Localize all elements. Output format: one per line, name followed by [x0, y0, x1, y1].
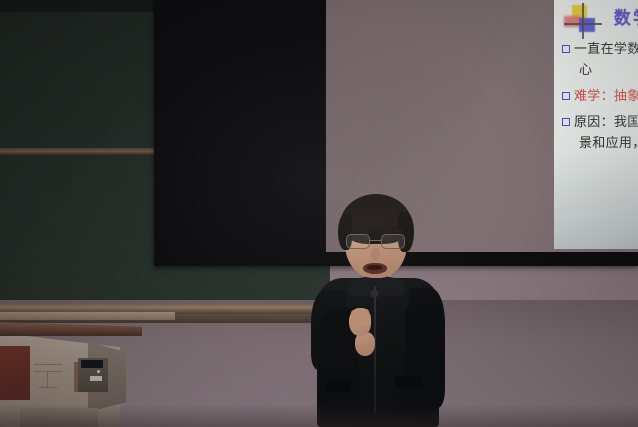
presenter-zipper-pull [371, 290, 378, 297]
crosshair-horizontal-icon [564, 23, 602, 25]
wall-trim [0, 312, 175, 320]
bullet-square-icon [562, 118, 570, 126]
lectern-equipment-indicator [97, 370, 100, 373]
presenter-jacket-zipper [374, 286, 376, 414]
bullet-text: 原因：我国教育倾向于“ [574, 112, 638, 133]
eyeglass-lens-left [346, 234, 370, 249]
presenter-finger [363, 309, 369, 327]
presenter-nose [371, 248, 380, 261]
classroom-photo: 数学的重要性 一直在学数学，还是感觉“数学无用”和力不从 心 [0, 0, 638, 427]
crosshair-vertical-icon [582, 3, 584, 39]
eyeglass-bridge [370, 240, 381, 241]
bullet-continuation: 景和应用，很少“用数学”去接实际问题 [562, 133, 638, 154]
presenter-mouth-inner [367, 265, 382, 270]
bullet-item: 难学：抽象，难懂，严密的推导→无用， [562, 86, 638, 107]
lectern-front-panel [0, 346, 30, 400]
chalkboard-upper-rail [0, 148, 172, 155]
colored-squares-crosshair-icon [562, 3, 602, 39]
bullet-text: 一直在学数学，还是感觉“数学无用”和力不从 [574, 39, 638, 60]
bullet-text: 景和应用，很少“ [579, 133, 638, 154]
wastebasket-decal-divider [47, 371, 48, 388]
bullet-square-icon [562, 45, 570, 53]
lectern-equipment-slot [81, 360, 103, 368]
lectern-equipment-label [90, 376, 102, 381]
bullet-text: 心 [579, 60, 592, 81]
slide-bullet-list: 一直在学数学，还是感觉“数学无用”和力不从 心 难学：抽象，难懂，严密的推导→无… [562, 39, 638, 154]
presenter-pocket-left [325, 380, 351, 392]
slide-content: 数学的重要性 一直在学数学，还是感觉“数学无用”和力不从 心 [554, 0, 638, 249]
presenter-pocket-right [395, 376, 421, 388]
bullet-text: 难学：抽象，难懂，严密的推导→无用， [574, 86, 638, 107]
bullet-item: 原因：我国教育倾向于“算数学”，脱离实际背 [562, 112, 638, 133]
presenter [305, 190, 455, 427]
eyeglass-lens-right [381, 234, 405, 249]
presenter-arm-right [405, 304, 445, 408]
slide-title: 数学的重要性 [614, 4, 638, 29]
bullet-continuation: 心 [562, 60, 638, 81]
projected-slide: 数学的重要性 一直在学数学，还是感觉“数学无用”和力不从 心 [554, 0, 638, 249]
floor-shadow [0, 404, 638, 427]
lectern-top-surface [0, 322, 142, 336]
bullet-square-icon [562, 92, 570, 100]
bullet-item: 一直在学数学，还是感觉“数学无用”和力不从 [562, 39, 638, 60]
